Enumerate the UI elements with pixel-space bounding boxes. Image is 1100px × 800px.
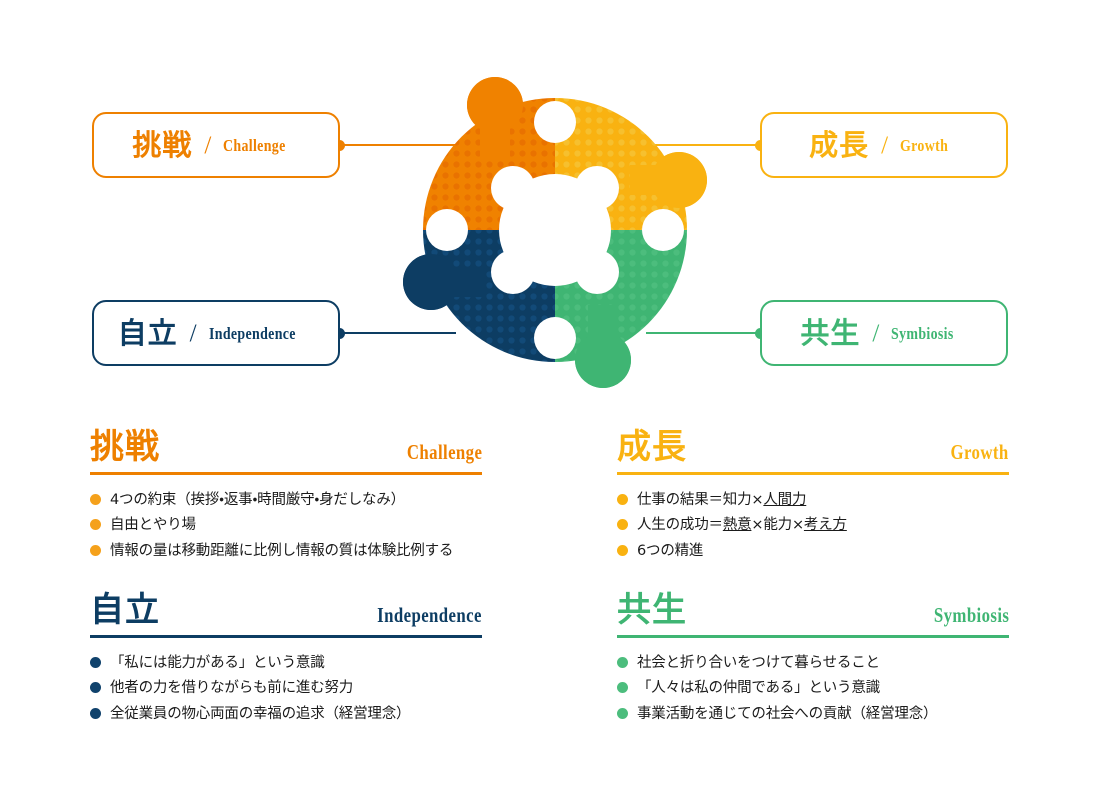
bullet-icon — [617, 519, 628, 530]
bullet-icon — [90, 708, 101, 719]
list-item: 人生の成功＝熱意×能力×考え方 — [617, 514, 1009, 536]
list-item: 他者の力を借りながらも前に進む努力 — [90, 677, 482, 699]
section-jp-title: 成長 — [617, 430, 687, 466]
bullet-icon — [90, 682, 101, 693]
bullet-text: 「人々は私の仲間である」という意識 — [637, 677, 880, 699]
callout-independence[interactable]: 自立 / Independence — [92, 300, 340, 366]
bullet-list: 4つの約束（挨拶・返事・時間厳守・身だしなみ） 自由とやり場 情報の量は移動距離… — [90, 489, 482, 562]
section-header: 成長 Growth — [617, 430, 1009, 475]
list-item: 情報の量は移動距離に比例し情報の質は体験比例する — [90, 540, 482, 562]
list-item: 社会と折り合いをつけて暮らせること — [617, 652, 1009, 674]
bullet-text: 他者の力を借りながらも前に進む努力 — [110, 677, 353, 699]
puzzle-quadrant-growth — [555, 60, 725, 230]
callout-jp-label: 挑戦 — [132, 131, 192, 160]
callout-symbiosis[interactable]: 共生 / Symbiosis — [760, 300, 1008, 366]
bullet-text: 情報の量は移動距離に比例し情報の質は体験比例する — [110, 540, 453, 562]
section-jp-title: 自立 — [90, 593, 160, 629]
bullet-text: 社会と折り合いをつけて暮らせること — [637, 652, 880, 674]
bullet-text: 「私には能力がある」という意識 — [110, 652, 325, 674]
list-item: 6つの精進 — [617, 540, 1009, 562]
bullet-list: 「私には能力がある」という意識 他者の力を借りながらも前に進む努力 全従業員の物… — [90, 652, 482, 725]
list-item: 自由とやり場 — [90, 514, 482, 536]
callout-separator: / — [870, 321, 881, 346]
list-item: 事業活動を通じての社会への貢献（経営理念） — [617, 703, 1009, 725]
callout-separator: / — [879, 133, 890, 158]
section-header: 自立 Independence — [90, 593, 482, 638]
bullet-icon — [90, 519, 101, 530]
list-item: 「私には能力がある」という意識 — [90, 652, 482, 674]
callout-challenge[interactable]: 挑戦 / Challenge — [92, 112, 340, 178]
puzzle-quadrant-challenge — [385, 60, 555, 230]
callout-growth[interactable]: 成長 / Growth — [760, 112, 1008, 178]
puzzle-quadrant-independence — [385, 230, 555, 400]
list-item: 仕事の結果＝知力×人間力 — [617, 489, 1009, 511]
section-independence: 自立 Independence 「私には能力がある」という意識 他者の力を借りな… — [90, 593, 482, 728]
bullet-icon — [617, 657, 628, 668]
bullet-text: 4つの約束（挨拶・返事・時間厳守・身だしなみ） — [110, 489, 405, 511]
list-item: 「人々は私の仲間である」という意識 — [617, 677, 1009, 699]
bullet-icon — [90, 545, 101, 556]
callout-jp-label: 成長 — [809, 131, 869, 160]
section-symbiosis: 共生 Symbiosis 社会と折り合いをつけて暮らせること 「人々は私の仲間で… — [617, 593, 1009, 728]
bullet-text: 事業活動を通じての社会への貢献（経営理念） — [637, 703, 937, 725]
section-header: 共生 Symbiosis — [617, 593, 1009, 638]
section-jp-title: 共生 — [617, 593, 687, 629]
value-sections: 挑戦 Challenge 4つの約束（挨拶・返事・時間厳守・身だしなみ） 自由と… — [0, 418, 1100, 800]
section-challenge: 挑戦 Challenge 4つの約束（挨拶・返事・時間厳守・身だしなみ） 自由と… — [90, 430, 482, 565]
bullet-icon — [90, 494, 101, 505]
callout-en-label: Growth — [900, 137, 948, 154]
section-en-title: Independence — [377, 605, 482, 626]
callout-separator: / — [202, 133, 213, 158]
callout-en-label: Challenge — [223, 137, 286, 154]
section-en-title: Challenge — [407, 442, 482, 463]
bullet-text: 6つの精進 — [637, 540, 703, 562]
bullet-text: 人生の成功＝熱意×能力×考え方 — [637, 514, 847, 536]
bullet-list: 社会と折り合いをつけて暮らせること 「人々は私の仲間である」という意識 事業活動… — [617, 652, 1009, 725]
section-jp-title: 挑戦 — [90, 430, 160, 466]
bullet-text: 仕事の結果＝知力×人間力 — [637, 489, 806, 511]
callout-jp-label: 自立 — [118, 319, 178, 348]
bullet-text: 自由とやり場 — [110, 514, 196, 536]
list-item: 4つの約束（挨拶・返事・時間厳守・身だしなみ） — [90, 489, 482, 511]
callout-jp-label: 共生 — [800, 319, 860, 348]
list-item: 全従業員の物心両面の幸福の追求（経営理念） — [90, 703, 482, 725]
bullet-text: 全従業員の物心両面の幸福の追求（経営理念） — [110, 703, 410, 725]
bullet-icon — [90, 657, 101, 668]
puzzle-ring-graphic — [385, 60, 725, 400]
callout-en-label: Independence — [209, 325, 296, 342]
section-header: 挑戦 Challenge — [90, 430, 482, 475]
puzzle-diagram: 挑戦 / Challenge 成長 / Growth 自立 / Independ… — [0, 0, 1100, 410]
bullet-icon — [617, 545, 628, 556]
section-en-title: Growth — [951, 442, 1009, 463]
bullet-icon — [617, 682, 628, 693]
section-en-title: Symbiosis — [934, 605, 1010, 626]
bullet-icon — [617, 708, 628, 719]
bullet-list: 仕事の結果＝知力×人間力 人生の成功＝熱意×能力×考え方 6つの精進 — [617, 489, 1009, 562]
bullet-icon — [617, 494, 628, 505]
section-growth: 成長 Growth 仕事の結果＝知力×人間力 人生の成功＝熱意×能力×考え方 6… — [617, 430, 1009, 565]
callout-en-label: Symbiosis — [891, 325, 954, 342]
callout-separator: / — [188, 321, 199, 346]
